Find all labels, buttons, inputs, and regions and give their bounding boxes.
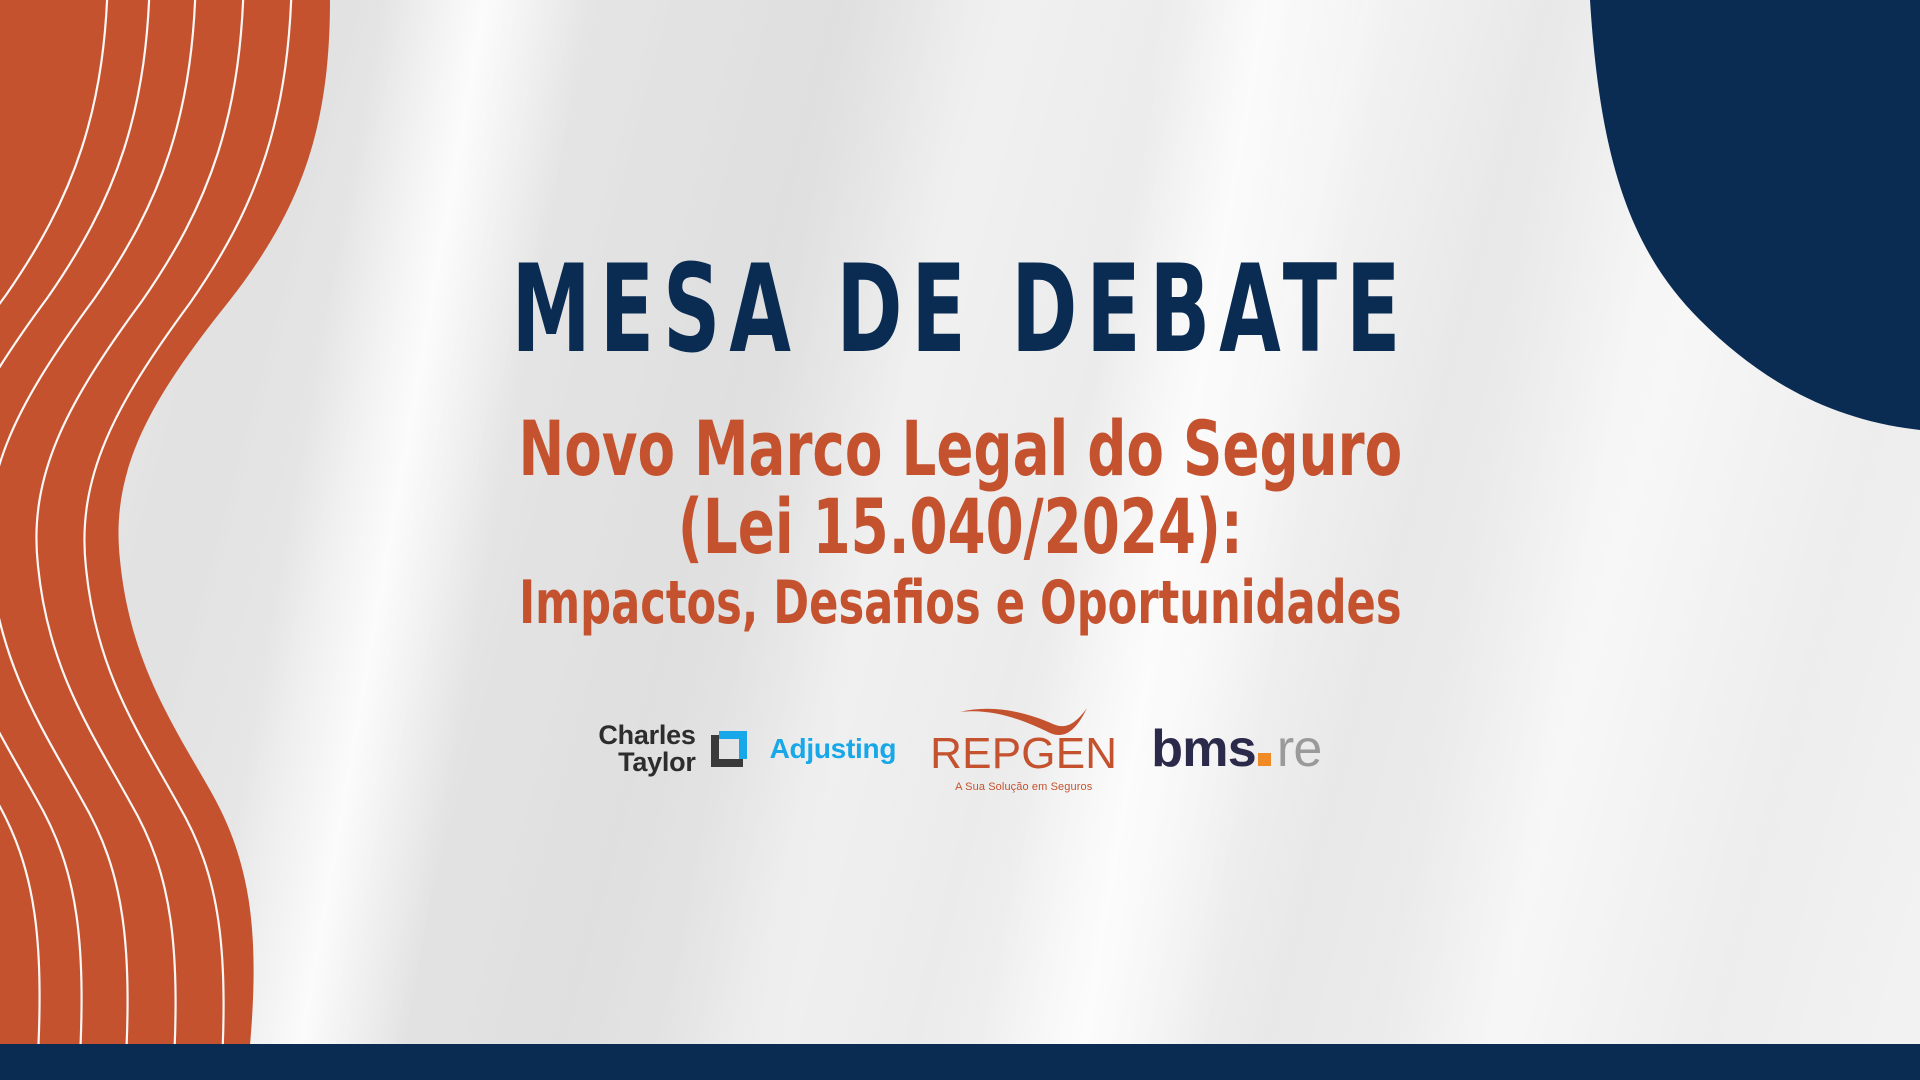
page-title: MESA DE DEBATE [511,250,1409,371]
charles-taylor-adjusting-label: Adjusting [770,733,897,765]
event-banner: MESA DE DEBATE Novo Marco Legal do Segur… [0,0,1920,1080]
charles-taylor-line-2: Taylor [618,749,695,775]
subtitle-line-1: Novo Marco Legal do Seguro [518,410,1402,488]
subtitle-block: Novo Marco Legal do Seguro (Lei 15.040/2… [518,410,1402,634]
bms-wordmark: bms [1151,723,1256,775]
repgen-wordmark: REPGEN [930,732,1117,776]
subtitle-line-3: Impactos, Desafios e Oportunidades [518,573,1402,635]
logo-bms-re: bms re [1151,723,1321,775]
logo-charles-taylor: Charles Taylor Adjusting [598,722,896,775]
charles-taylor-wordmark: Charles Taylor [598,722,695,775]
bms-dot-icon [1258,753,1271,766]
charles-taylor-line-1: Charles [598,722,695,748]
banner-content: MESA DE DEBATE Novo Marco Legal do Segur… [0,0,1920,1080]
subtitle-line-2: (Lei 15.040/2024): [518,488,1402,566]
repgen-tagline: A Sua Solução em Seguros [955,781,1092,793]
bms-re-suffix: re [1277,723,1322,775]
charles-taylor-square-icon [706,726,752,772]
partner-logos: Charles Taylor Adjusting REPGEN A Sua So… [598,704,1321,793]
logo-repgen: REPGEN A Sua Solução em Seguros [930,704,1117,793]
